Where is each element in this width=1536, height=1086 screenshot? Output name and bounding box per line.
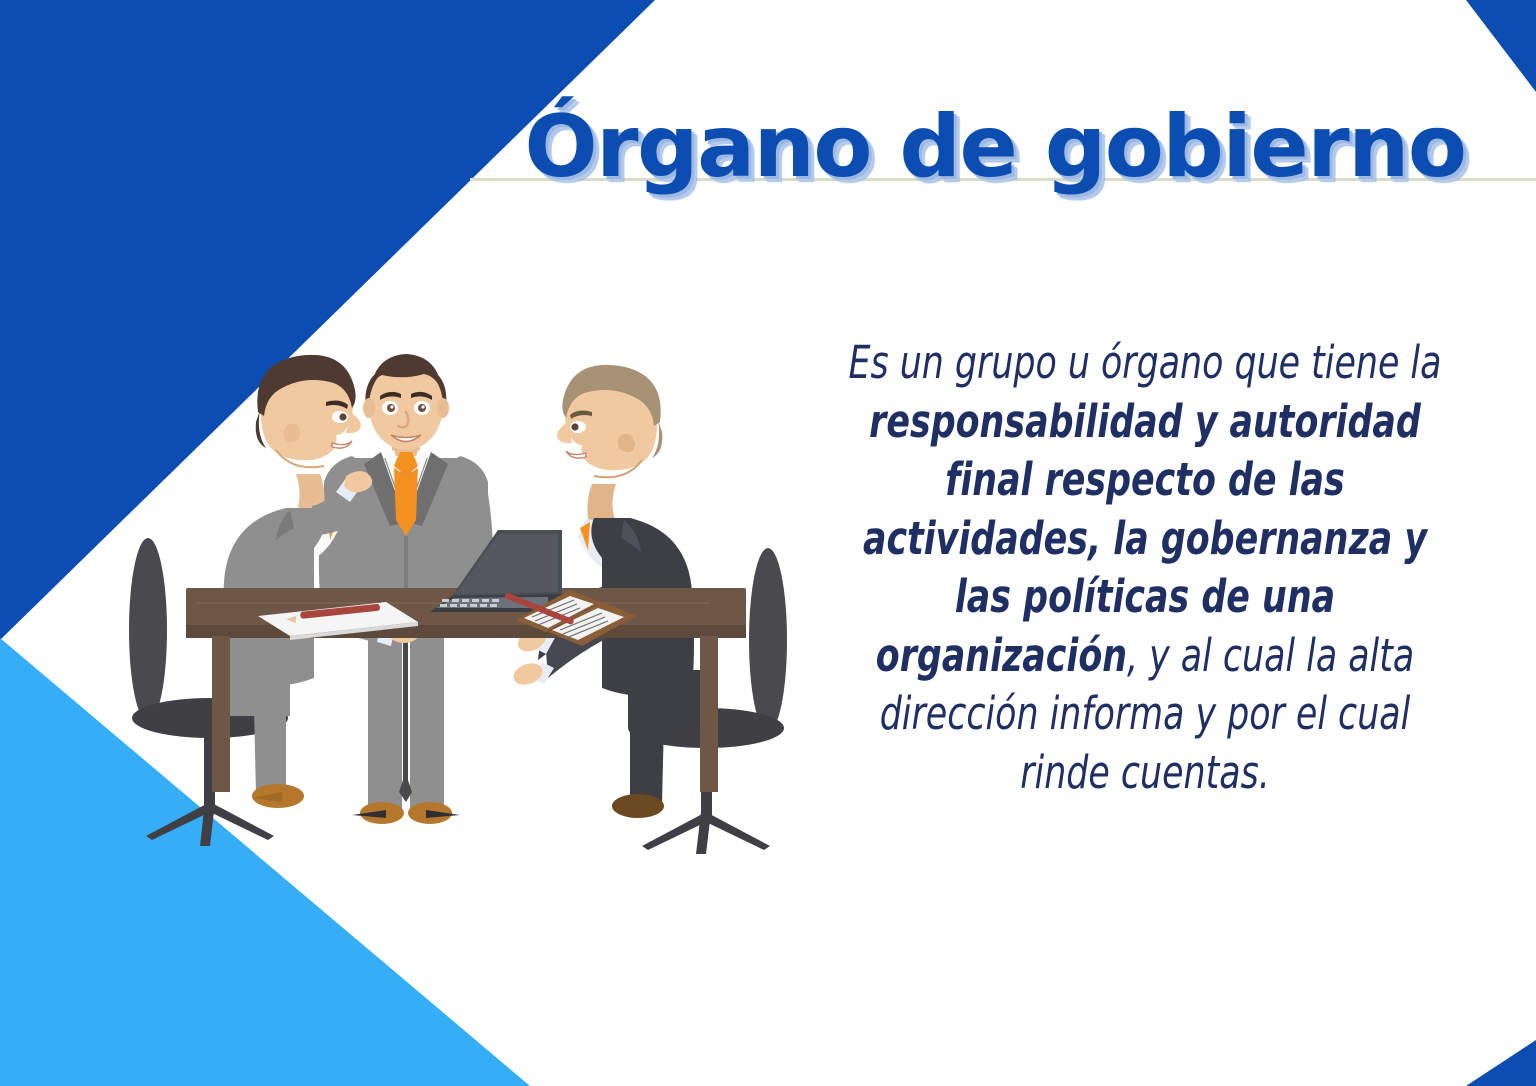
page-title: Órgano de gobierno xyxy=(470,104,1520,190)
body-paragraph: Es un grupo u órgano que tiene la respon… xyxy=(848,334,1441,802)
slide-canvas: Órgano de gobierno Es un grupo u órgano … xyxy=(0,0,1536,1086)
meeting-illustration xyxy=(100,340,820,860)
body-segment-0: Es un grupo u órgano que tiene la xyxy=(849,336,1442,389)
corner-triangle-bottom-right xyxy=(1466,1040,1536,1086)
corner-triangle-top-right xyxy=(1366,0,1536,92)
